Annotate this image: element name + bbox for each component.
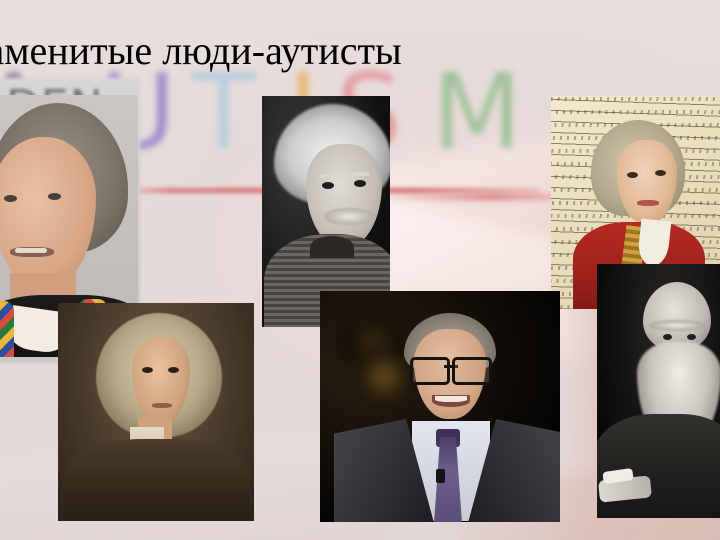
eyebrow-shape [319,174,337,178]
eye-shape [655,170,666,176]
presentation-slide: A U T I S M DEN TITIES Знаменитые люди-а… [0,0,720,540]
eye-shape [142,367,153,373]
coat-shape [597,414,720,518]
scarf-shape [0,301,14,357]
collar-shape [310,236,354,258]
robe-shape [64,439,250,521]
eye-shape [687,334,696,340]
eye-shape [627,172,638,178]
photo-bill-gates[interactable] [320,291,560,522]
slide-title: Знаменитые люди-аутисты [0,28,505,74]
photo-isaac-newton[interactable] [58,303,254,521]
eye-shape [168,367,179,373]
glasses-right-lens [452,357,492,385]
eye-shape [48,193,61,200]
glasses-left-lens [410,357,450,385]
watermark-letter-t: T [192,60,256,164]
mouth-shape [10,247,54,257]
eye-shape [663,334,672,340]
eyebrow-shape [351,172,369,176]
glasses-icon [410,357,492,379]
eye-shape [4,195,17,202]
eye-shape [322,182,334,189]
mouth-shape [432,395,470,407]
photo-charles-darwin[interactable] [597,264,720,518]
moustache-shape [324,208,374,225]
mouth-shape [637,200,659,206]
watermark-letter-m: M [432,60,522,164]
mouth-shape [152,403,172,408]
eye-shape [354,180,366,187]
eyebrow-shape [649,320,705,331]
lapel-microphone-icon [436,469,445,483]
bokeh-light [356,351,412,403]
